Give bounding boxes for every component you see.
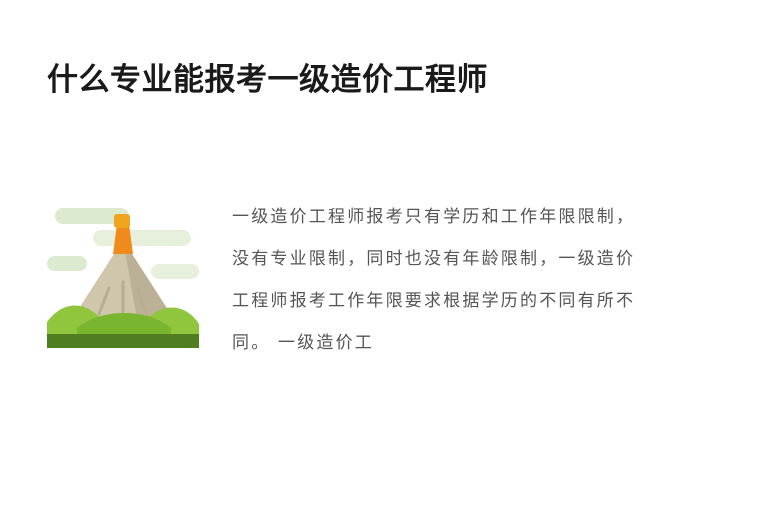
document-page: 什么专业能报考一级造价工程师 一级造价工程师报考只有 (0, 0, 768, 510)
volcano-landscape-illustration (47, 196, 199, 348)
page-title: 什么专业能报考一级造价工程师 (47, 60, 488, 100)
article-body: 一级造价工程师报考只有学历和工作年限限制，没有专业限制，同时也没有年龄限制，一级… (232, 196, 642, 364)
